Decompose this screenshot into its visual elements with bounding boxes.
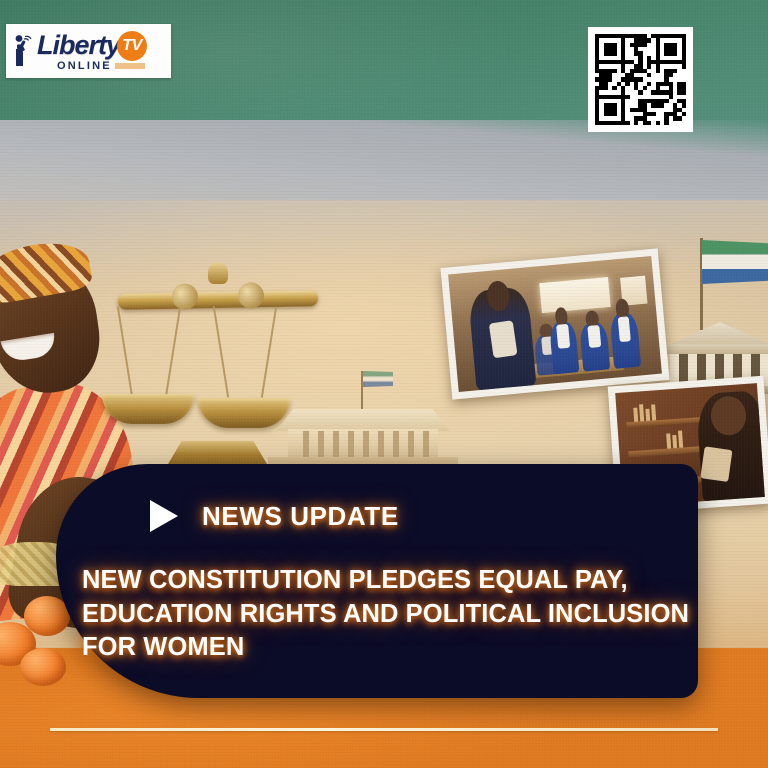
flag-pole: [361, 371, 363, 411]
student-figure: [549, 320, 580, 374]
student-figure: [580, 322, 611, 371]
news-update-kicker: NEWS UPDATE: [150, 500, 399, 532]
logo-secondary-text: ONLINE: [57, 60, 112, 72]
classroom-photo: [440, 248, 669, 399]
professional-woman-figure: [695, 390, 765, 501]
sierra-leone-flag-icon: [702, 240, 768, 284]
book: [633, 407, 638, 421]
logo-accent-bar: [115, 63, 145, 69]
teacher-blouse: [488, 320, 517, 359]
national-flag-small: [363, 371, 393, 387]
news-poster: Liberty TV ONLINE NEWS UPDATE NEW CONSTI…: [0, 0, 768, 768]
book: [645, 408, 650, 420]
classroom-window: [539, 277, 611, 314]
woman-collar: [701, 446, 734, 482]
microphone-icon: [12, 34, 36, 68]
footer-divider: [50, 728, 718, 731]
book: [651, 404, 656, 420]
scales-pan-left: [102, 394, 194, 424]
logo-tv-badge: TV: [117, 31, 147, 61]
building-pediment: [666, 322, 768, 346]
play-triangle-icon[interactable]: [150, 500, 178, 532]
parliament-roof: [276, 409, 450, 431]
news-banner: NEWS UPDATE NEW CONSTITUTION PLEDGES EQU…: [56, 464, 698, 698]
qr-code-matrix: [595, 34, 686, 125]
book: [639, 404, 644, 421]
scales-string: [261, 306, 277, 397]
student-figure: [609, 312, 640, 368]
headline-text: NEW CONSTITUTION PLEDGES EQUAL PAY, EDUC…: [82, 564, 702, 665]
scales-string: [165, 306, 181, 397]
qr-code-icon[interactable]: [588, 27, 693, 132]
logo-primary-text: Liberty: [37, 33, 120, 59]
classroom-photo-image: [448, 256, 662, 392]
kicker-label: NEWS UPDATE: [202, 501, 399, 532]
liberty-tv-logo[interactable]: Liberty TV ONLINE: [6, 24, 171, 78]
parliament-columns: [294, 431, 432, 457]
scales-string: [117, 306, 133, 397]
building-entablature: [664, 344, 768, 354]
book: [673, 435, 678, 448]
logo-wordmark: Liberty TV ONLINE: [37, 31, 147, 72]
scales-finial: [208, 262, 228, 284]
logo-tv-text: TV: [122, 37, 141, 55]
book: [666, 434, 671, 449]
book: [678, 431, 683, 448]
government-building-photo: [662, 238, 768, 388]
scales-beam: [118, 290, 318, 309]
